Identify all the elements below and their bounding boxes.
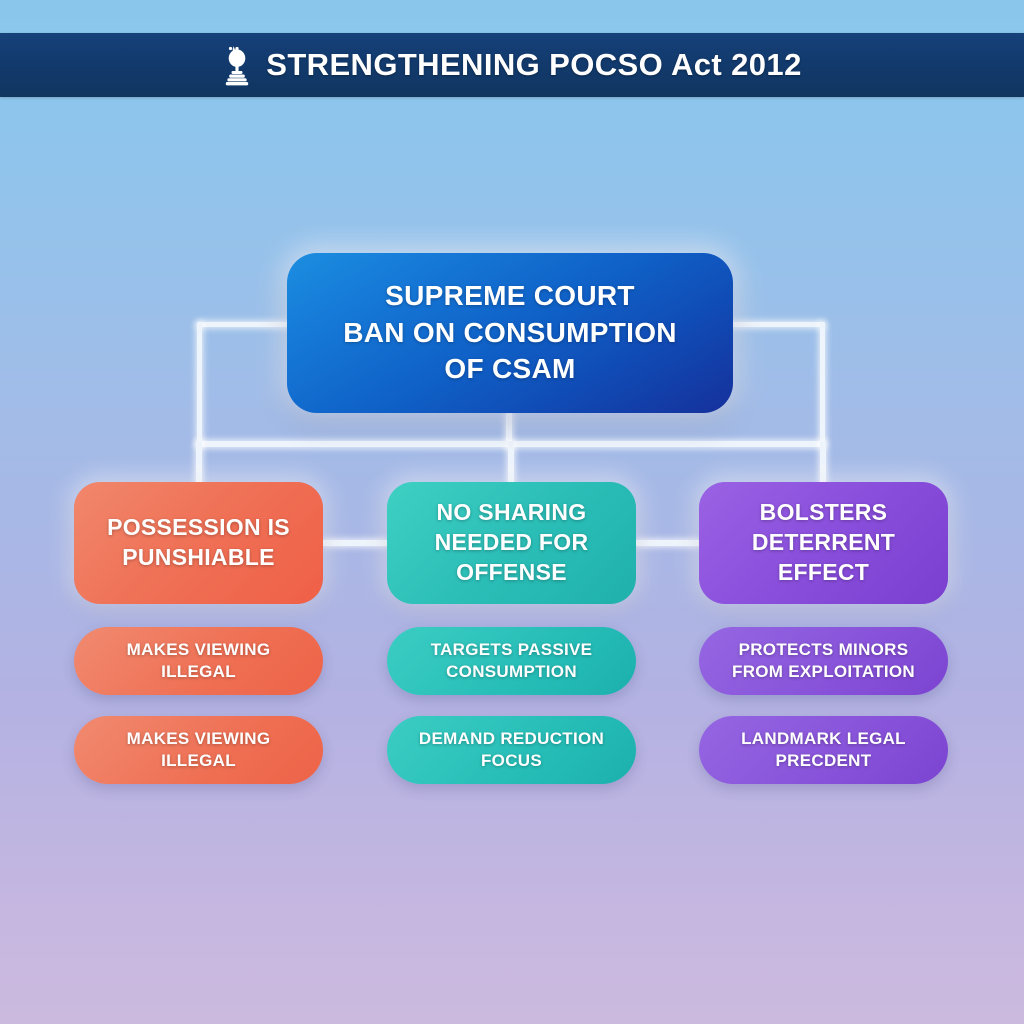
pillar-node-no-sharing-needed-for-offense[interactable]: NO SHARING NEEDED FOR OFFENSE [387, 482, 636, 604]
connector-drop-column-1 [196, 441, 202, 487]
sub-1-1-line-1: MAKES VIEWING [127, 639, 271, 661]
sub-1-1-line-2: ILLEGAL [127, 661, 271, 683]
pillar-3-line-2: DETERRENT [752, 528, 895, 558]
header-band: STRENGTHENING POCSO Act 2012 [0, 33, 1024, 97]
pillar-1-line-1: POSSESSION IS [107, 513, 290, 543]
sub-1-2-line-1: MAKES VIEWING [127, 728, 271, 750]
sub-2-2-line-1: DEMAND REDUCTION [419, 728, 604, 750]
page-title: STRENGTHENING POCSO Act 2012 [266, 47, 801, 83]
sub-node-makes-viewing-illegal-1[interactable]: MAKES VIEWING ILLEGAL [74, 627, 323, 695]
pillar-2-line-1: NO SHARING [435, 498, 589, 528]
pillar-node-possession-is-punshiable[interactable]: POSSESSION IS PUNSHIABLE [74, 482, 323, 604]
connector-pillar-link-1-2 [322, 540, 388, 546]
sub-2-1-line-2: CONSUMPTION [431, 661, 593, 683]
pillar-1-line-2: PUNSHIABLE [107, 543, 290, 573]
root-node-supreme-court-ban[interactable]: SUPREME COURT BAN ON CONSUMPTION OF CSAM [287, 253, 733, 413]
sub-1-2-line-2: ILLEGAL [127, 750, 271, 772]
root-node-line-1: SUPREME COURT [343, 278, 677, 314]
connector-pillar-link-2-3 [635, 540, 701, 546]
sub-2-1-line-1: TARGETS PASSIVE [431, 639, 593, 661]
connector-drop-column-3 [820, 441, 826, 487]
sub-node-targets-passive-consumption[interactable]: TARGETS PASSIVE CONSUMPTION [387, 627, 636, 695]
sub-node-demand-reduction-focus[interactable]: DEMAND REDUCTION FOCUS [387, 716, 636, 784]
sub-node-landmark-legal-precdent[interactable]: LANDMARK LEGAL PRECDENT [699, 716, 948, 784]
root-node-line-2: BAN ON CONSUMPTION [343, 315, 677, 351]
connector-leg-right [820, 322, 825, 446]
connector-leg-left [197, 322, 202, 446]
root-node-line-3: OF CSAM [343, 351, 677, 387]
pillar-node-bolsters-deterrent-effect[interactable]: BOLSTERS DETERRENT EFFECT [699, 482, 948, 604]
monument-pillar-icon [222, 43, 252, 87]
sub-3-1-line-1: PROTECTS MINORS [732, 639, 915, 661]
sub-node-protects-minors-from-exploitation[interactable]: PROTECTS MINORS FROM EXPLOITATION [699, 627, 948, 695]
connector-upper-rail-left [197, 322, 293, 327]
connector-upper-rail-right [727, 322, 825, 327]
pillar-3-line-1: BOLSTERS [752, 498, 895, 528]
sub-3-2-line-2: PRECDENT [741, 750, 906, 772]
sub-3-1-line-2: FROM EXPLOITATION [732, 661, 915, 683]
sub-2-2-line-2: FOCUS [419, 750, 604, 772]
connector-drop-column-2 [508, 441, 514, 487]
pillar-2-line-2: NEEDED FOR [435, 528, 589, 558]
pillar-3-line-3: EFFECT [752, 558, 895, 588]
infographic-canvas: STRENGTHENING POCSO Act 2012 SUPREME COU… [0, 0, 1024, 1024]
pillar-2-line-3: OFFENSE [435, 558, 589, 588]
sub-3-2-line-1: LANDMARK LEGAL [741, 728, 906, 750]
sub-node-makes-viewing-illegal-2[interactable]: MAKES VIEWING ILLEGAL [74, 716, 323, 784]
